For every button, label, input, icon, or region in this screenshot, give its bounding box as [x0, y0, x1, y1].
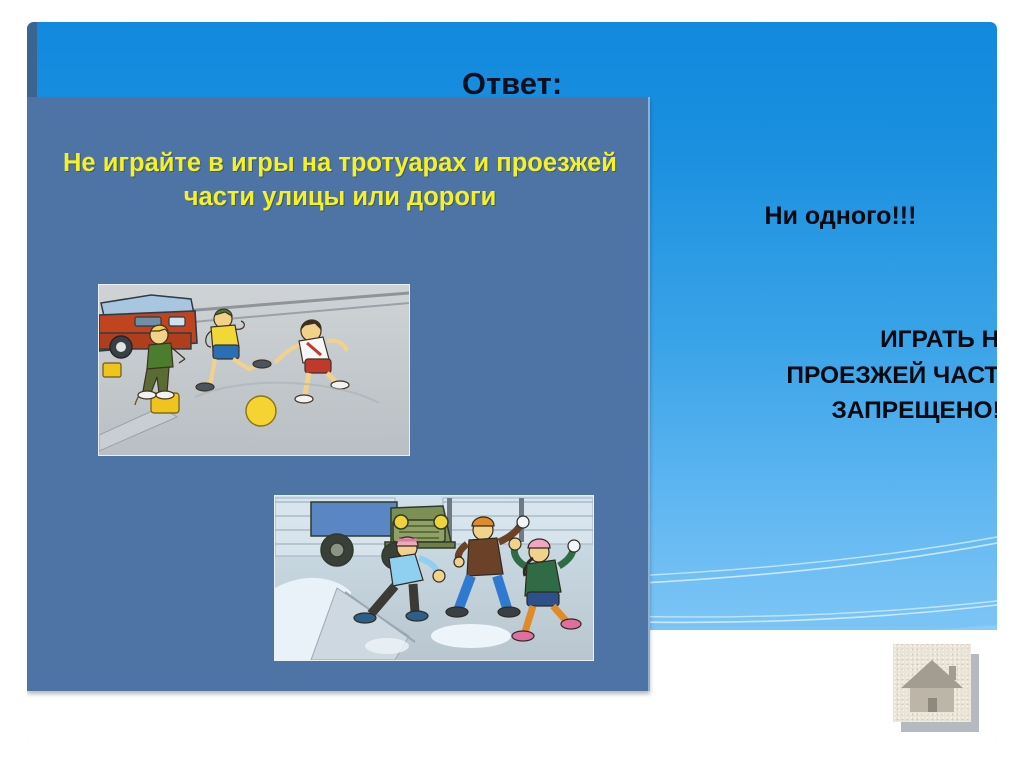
- warning-text-block: ИГРАТЬ НА ПРОЕЗЖЕЙ ЧАСТИ ЗАПРЕЩЕНО!!!: [627, 322, 997, 429]
- illustration-children-snowballs: [274, 495, 594, 661]
- home-button[interactable]: [893, 644, 979, 732]
- content-panel: Не играйте в игры на тротуарах и проезже…: [27, 97, 650, 691]
- answer-text: Ни одного!!!: [657, 202, 997, 231]
- panel-heading-text: Не играйте в игры на тротуарах и проезже…: [45, 147, 635, 214]
- screenshot-page: Ответ: Не играйте в игры на тротуарах и …: [0, 0, 1024, 767]
- warning-line-3: ЗАПРЕЩЕНО!!!: [627, 393, 997, 429]
- warning-line-2: ПРОЕЗЖЕЙ ЧАСТИ: [627, 358, 997, 394]
- warning-line-1: ИГРАТЬ НА: [627, 322, 997, 358]
- home-icon: [893, 644, 971, 722]
- illustration-children-playing-ball: [98, 284, 410, 456]
- presentation-slide: Ответ: Не играйте в игры на тротуарах и …: [27, 22, 997, 745]
